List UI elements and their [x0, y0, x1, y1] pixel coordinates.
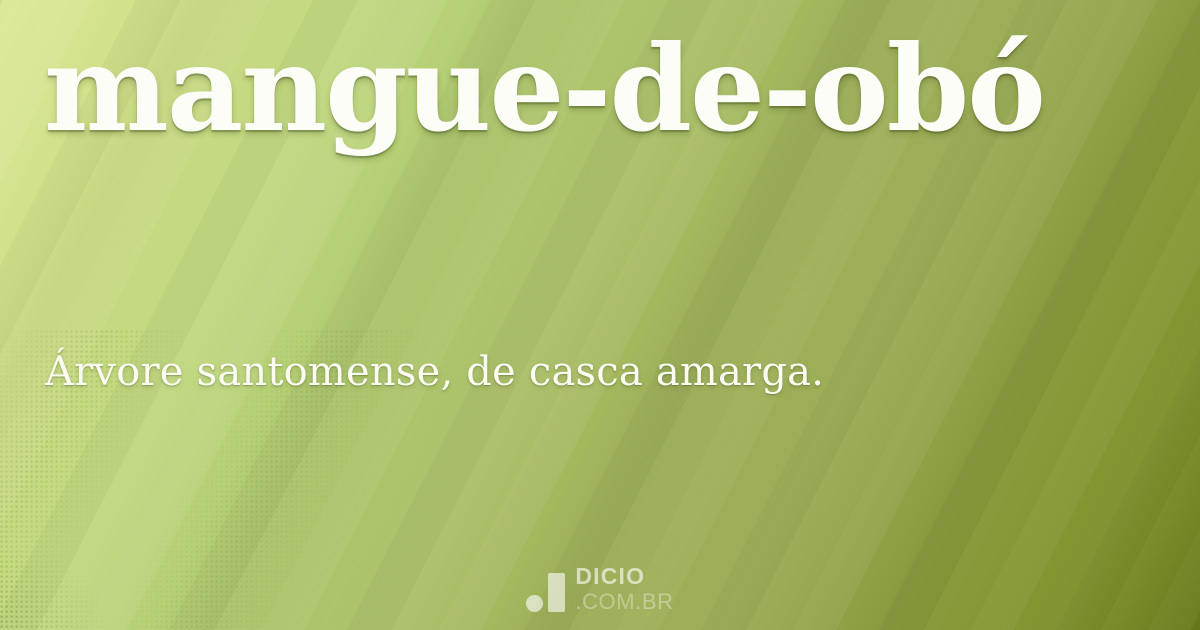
brand-name-label: DICIO — [575, 565, 673, 588]
bar-icon — [548, 573, 565, 612]
card-content: mangue-de-obó Árvore santomense, de casc… — [0, 0, 1200, 630]
brand-logo[interactable]: DICIO .COM.BR — [0, 565, 1200, 614]
word-definition-card: mangue-de-obó Árvore santomense, de casc… — [0, 0, 1200, 630]
brand-mark-icon — [526, 573, 565, 614]
page-title: mangue-de-obó — [44, 14, 1044, 164]
brand-wordmark: DICIO .COM.BR — [575, 565, 673, 614]
brand-tld-label: .COM.BR — [575, 591, 673, 613]
circle-icon — [526, 595, 543, 612]
word-definition-text: Árvore santomense, de casca amarga. — [45, 344, 824, 400]
